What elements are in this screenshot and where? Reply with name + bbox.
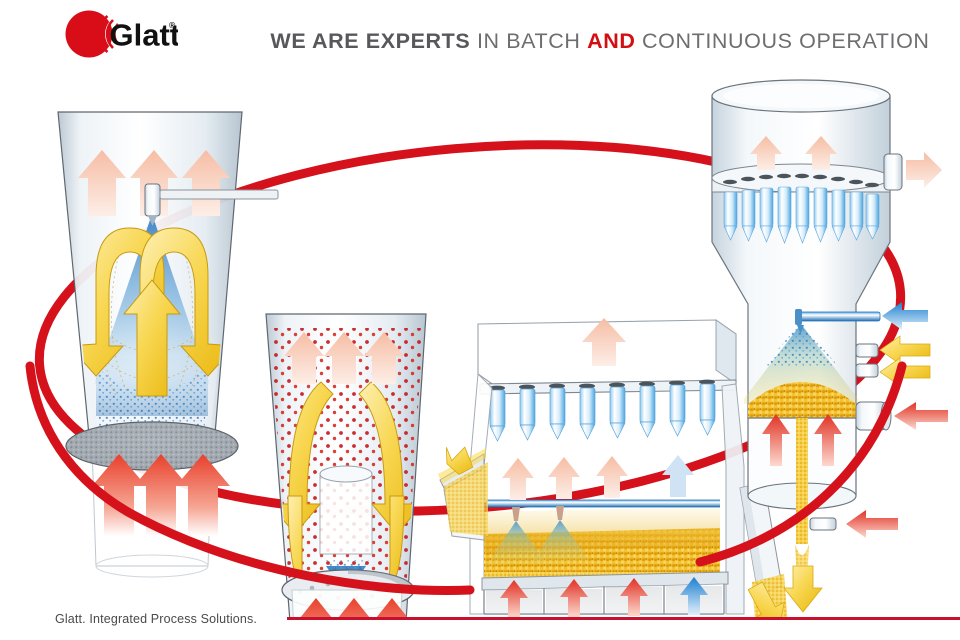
draft-tube <box>320 466 372 554</box>
shell-top-rim <box>712 80 890 112</box>
internal-exhaust-arrows <box>750 136 837 170</box>
process-loop-ellipse-back <box>24 111 916 545</box>
bottom-spray-cone <box>326 566 366 596</box>
logo-wordmark: Glatt <box>110 18 179 53</box>
spray-cone <box>94 214 210 399</box>
top-spray-nozzle <box>145 184 278 226</box>
lower-air-inlet-arrow <box>846 510 898 538</box>
particle-cloud-red <box>272 328 422 578</box>
recycle-arrow-1 <box>880 336 930 364</box>
spray-lance <box>795 309 880 334</box>
tube-sheet-ports <box>723 174 879 187</box>
filter-tube-sheet <box>480 380 736 394</box>
unit-top-spray-batch <box>58 112 278 577</box>
filter-cartridges <box>724 187 879 243</box>
bed-air-arrows <box>502 455 694 500</box>
spray-nozzles <box>486 506 590 566</box>
classifier-cylinder <box>748 418 856 496</box>
bed-support-grid <box>482 572 728 590</box>
unit-continuous-horizontal-bed <box>438 318 795 618</box>
inlet-air-arrows <box>92 454 230 536</box>
vessel-body-wurster <box>266 314 426 618</box>
central-up-arrow <box>124 280 180 396</box>
flow-guides <box>100 242 204 396</box>
classifier-air-arrows <box>762 414 842 466</box>
footer-tagline: Glatt. Integrated Process Solutions. <box>55 612 257 626</box>
spray-manifold-pipe <box>486 500 722 507</box>
upper-plenum <box>478 320 736 388</box>
headline-bold-part: WE ARE EXPERTS <box>270 29 470 53</box>
logo-registered-mark: ® <box>169 20 176 30</box>
recycle-nozzles <box>856 336 930 386</box>
nozzle-supply-pipe <box>160 190 278 199</box>
unit-continuous-spray-granulator <box>712 80 960 618</box>
slide-header: Glatt ® WE ARE EXPERTS IN BATCH AND CONT… <box>0 0 960 76</box>
granulate-bed <box>484 528 726 584</box>
filter-cartridges <box>490 384 715 441</box>
headline-light-part-1: IN BATCH <box>477 29 581 53</box>
process-loop-ellipse-front <box>30 222 902 590</box>
process-diagram <box>0 66 960 618</box>
feed-inlet-chute <box>438 448 488 540</box>
circulation-arrows <box>69 228 235 396</box>
distributor-plate <box>66 422 238 470</box>
slide-canvas: Glatt ® WE ARE EXPERTS IN BATCH AND CONT… <box>0 0 960 640</box>
exhaust-outlet <box>884 152 942 190</box>
exhaust-arrow <box>582 318 626 366</box>
circulation-arrows <box>270 382 422 610</box>
page-title: WE ARE EXPERTS IN BATCH AND CONTINUOUS O… <box>255 26 945 56</box>
air-inlet-arrow-red <box>894 402 948 430</box>
air-inlet-nozzles <box>856 398 960 618</box>
headline-accent-part: AND <box>587 29 635 53</box>
unit-wurster-batch <box>266 314 426 618</box>
headline-light-part-2: CONTINUOUS OPERATION <box>642 29 930 53</box>
slide-footer: Glatt. Integrated Process Solutions. <box>0 596 960 640</box>
exhaust-arrows <box>284 332 404 384</box>
glatt-logo: Glatt ® <box>58 8 178 60</box>
feed-arrow <box>441 443 476 477</box>
footer-rule <box>287 617 960 620</box>
recycle-arrow-2 <box>880 358 930 386</box>
fluidised-particle-cloud <box>96 366 208 449</box>
product-discharge-column <box>796 418 808 544</box>
spray-cone <box>740 324 862 404</box>
vessel-body-top-spray <box>58 112 242 446</box>
granulator-shell <box>712 96 890 418</box>
exhaust-arrow <box>906 152 942 188</box>
granule-bed <box>748 382 856 422</box>
exhaust-arrows <box>78 150 230 216</box>
lower-air-inlet <box>810 510 898 538</box>
liquid-inlet-arrow <box>882 302 928 330</box>
